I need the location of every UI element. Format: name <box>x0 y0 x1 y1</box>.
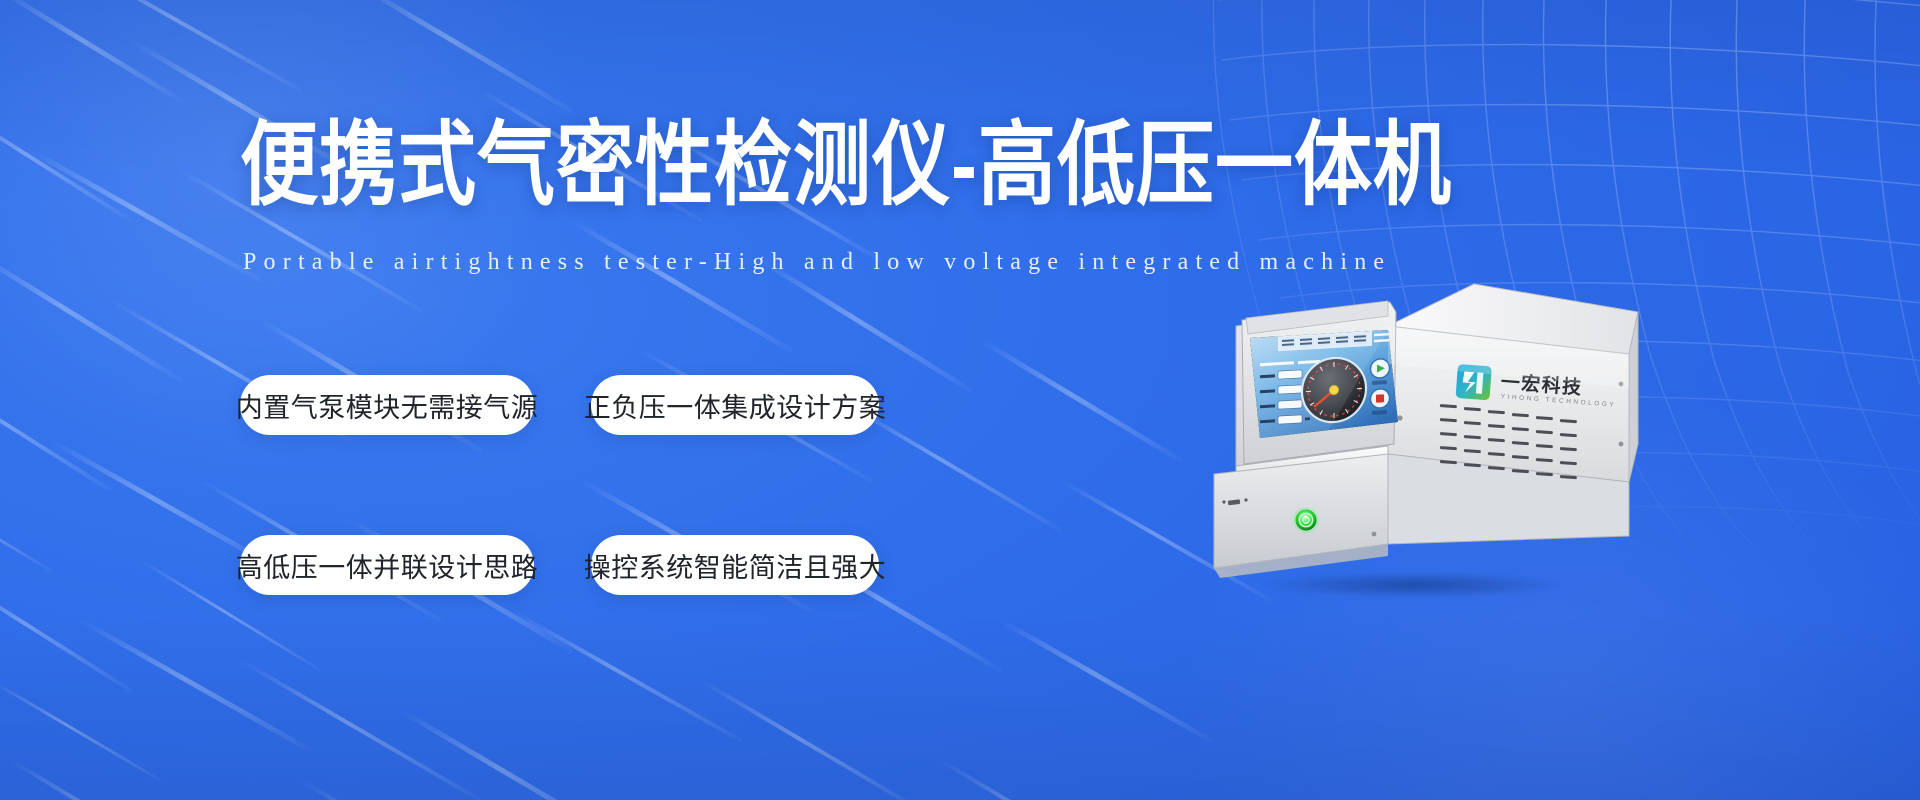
product-device-image: 一宏科技 YIHONG TECHNOLOGY <box>1174 268 1654 598</box>
feature-pill-2[interactable]: 正负压一体集成设计方案 <box>591 375 879 435</box>
feature-pill-3[interactable]: 高低压一体并联设计思路 <box>240 535 534 595</box>
feature-pill-1-label: 内置气泵模块无需接气源 <box>236 386 539 425</box>
device-drop-shadow <box>1214 568 1614 602</box>
page-title: 便携式气密性检测仪-高低压一体机 <box>240 115 1640 214</box>
feature-pill-4[interactable]: 操控系统智能简洁且强大 <box>591 535 879 595</box>
feature-pill-2-label: 正负压一体集成设计方案 <box>584 386 887 425</box>
feature-pill-list: 内置气泵模块无需接气源 正负压一体集成设计方案 高低压一体并联设计思路 操控系统… <box>240 375 920 623</box>
feature-pill-row-1: 内置气泵模块无需接气源 正负压一体集成设计方案 <box>240 375 920 435</box>
banner-content: 便携式气密性检测仪-高低压一体机 Portable airtightness t… <box>0 0 1920 800</box>
power-button <box>1293 507 1319 533</box>
feature-pill-row-2: 高低压一体并联设计思路 操控系统智能简洁且强大 <box>240 535 920 595</box>
feature-pill-3-label: 高低压一体并联设计思路 <box>236 546 539 585</box>
feature-pill-4-label: 操控系统智能简洁且强大 <box>584 546 887 585</box>
promo-banner: 便携式气密性检测仪-高低压一体机 Portable airtightness t… <box>0 0 1920 800</box>
feature-pill-1[interactable]: 内置气泵模块无需接气源 <box>240 375 534 435</box>
